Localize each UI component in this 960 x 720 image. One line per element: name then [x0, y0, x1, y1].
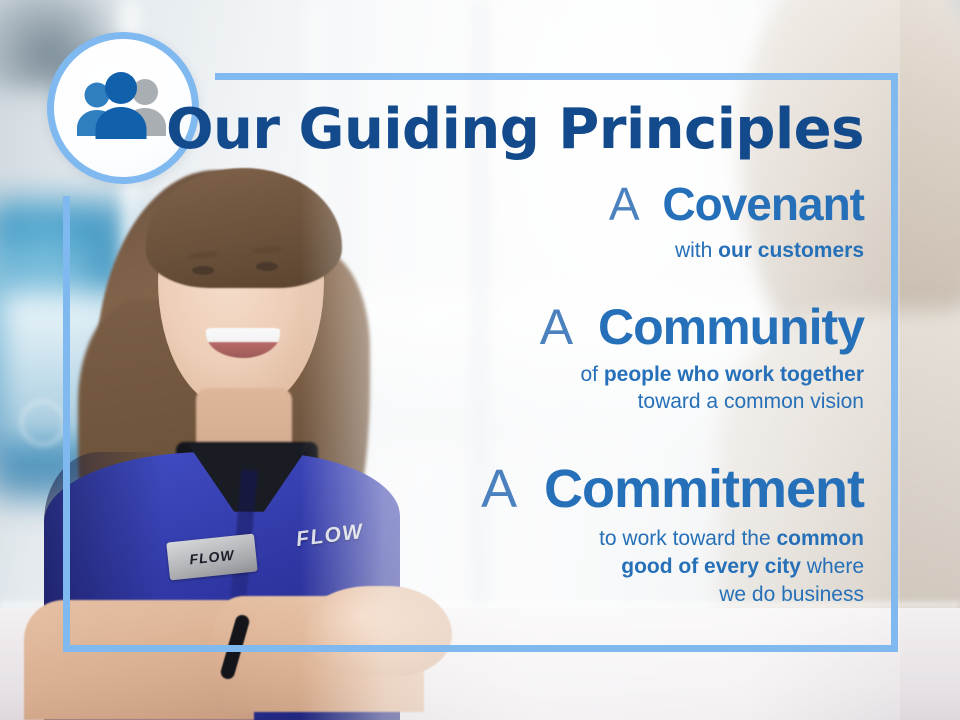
nametag-logo-text: FLOW — [189, 547, 236, 568]
associate-eye-right — [256, 262, 278, 271]
associate-eye-left — [192, 266, 214, 275]
people-group-badge — [47, 32, 199, 184]
frame-border-left — [63, 196, 70, 652]
frame-border-bottom — [63, 645, 898, 652]
people-group-icon — [71, 71, 175, 145]
frame-border-right — [891, 73, 898, 652]
banner-canvas: FLOW FLOW — [0, 0, 960, 720]
associate-clasped-hands — [300, 586, 452, 676]
frame-border-top — [215, 73, 898, 80]
